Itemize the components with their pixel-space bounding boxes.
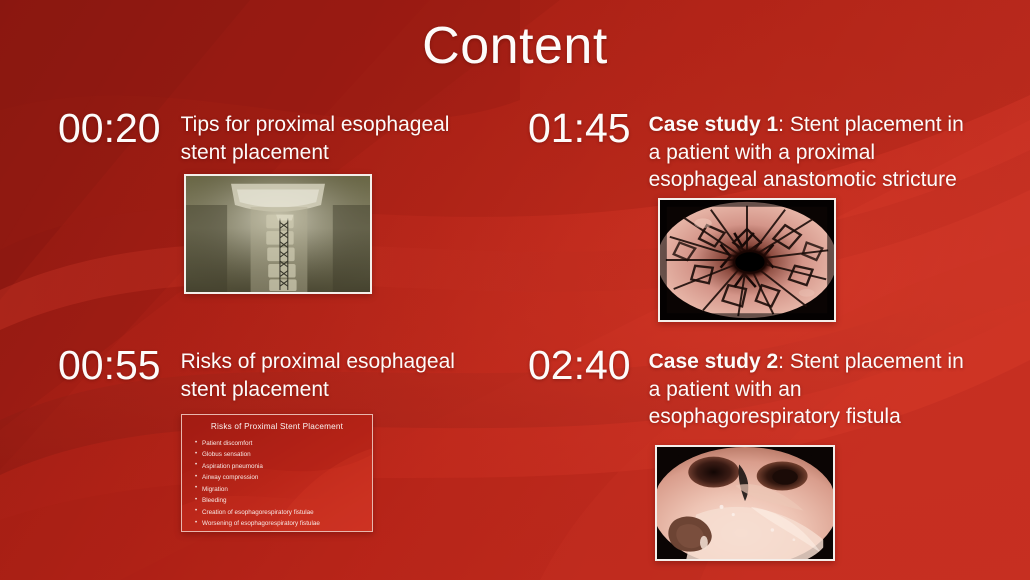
content-entry-4[interactable]: 02:40 Case study 2: Stent placement in a… — [528, 345, 969, 431]
neck-xray-stent-thumbnail[interactable] — [184, 174, 372, 294]
content-entry-3[interactable]: 00:55 Risks of proximal esophageal stent… — [58, 345, 486, 403]
mini-slide-title: Risks of Proximal Stent Placement — [191, 422, 363, 431]
entry-label-2: Case study 1: Stent placement in a patie… — [649, 111, 969, 194]
risks-slide-thumbnail[interactable]: Risks of Proximal Stent Placement Patien… — [181, 414, 373, 532]
entry-label-1: Tips for proximal esophageal stent place… — [181, 111, 486, 166]
entry-bold-prefix-4: Case study 2 — [649, 350, 779, 373]
endoscopic-fistula-thumbnail[interactable] — [655, 445, 835, 561]
timestamp-3: 00:55 — [58, 345, 161, 386]
list-item: Airway compression — [195, 472, 363, 483]
mini-slide-content: Risks of Proximal Stent Placement Patien… — [182, 415, 372, 531]
list-item: Creation of esophagorespiratory fistulae — [195, 507, 363, 518]
list-item: Globus sensation — [195, 449, 363, 460]
entry-text-1: Tips for proximal esophageal stent place… — [181, 113, 450, 164]
list-item: Aspiration pneumonia — [195, 461, 363, 472]
list-item: Migration — [195, 484, 363, 495]
slide-title: Content — [0, 16, 1030, 76]
entry-text-3: Risks of proximal esophageal stent place… — [181, 350, 455, 401]
list-item: Worsening of esophagorespiratory fistula… — [195, 518, 363, 529]
content-entry-2[interactable]: 01:45 Case study 1: Stent placement in a… — [528, 108, 969, 194]
entry-label-3: Risks of proximal esophageal stent place… — [181, 348, 486, 403]
entry-label-4: Case study 2: Stent placement in a patie… — [649, 348, 969, 431]
slide-background — [0, 0, 1030, 580]
list-item: Bleeding — [195, 495, 363, 506]
presentation-slide: Content 00:20 Tips for proximal esophage… — [0, 0, 1030, 580]
endoscopic-stent-thumbnail[interactable] — [658, 198, 836, 322]
timestamp-4: 02:40 — [528, 345, 631, 386]
content-entry-1[interactable]: 00:20 Tips for proximal esophageal stent… — [58, 108, 486, 166]
list-item: Patient discomfort — [195, 438, 363, 449]
entry-bold-prefix-2: Case study 1 — [649, 113, 779, 136]
timestamp-1: 00:20 — [58, 108, 161, 149]
mini-slide-bullet-list: Patient discomfort Globus sensation Aspi… — [191, 438, 363, 530]
timestamp-2: 01:45 — [528, 108, 631, 149]
